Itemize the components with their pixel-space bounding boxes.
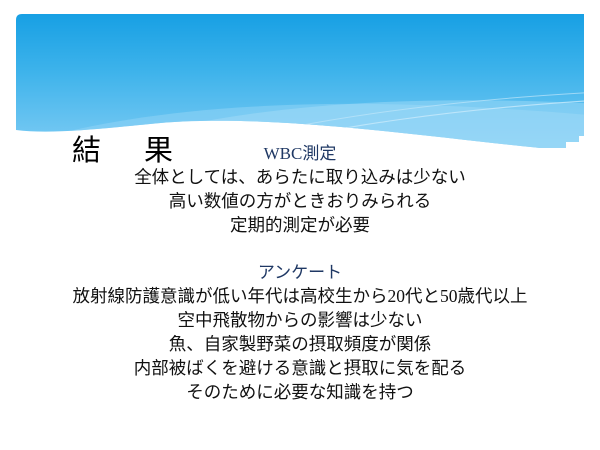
body-line: 内部被ばくを避ける意識と摂取に気を配る	[0, 356, 600, 380]
section-questionnaire: アンケート 放射線防護意識が低い年代は高校生から20代と50歳代以上 空中飛散物…	[0, 261, 600, 404]
body-line: 全体としては、あらたに取り込みは少ない	[0, 165, 600, 189]
section-spacer	[0, 237, 600, 261]
section-heading-wbc: WBC測定	[0, 142, 600, 165]
section-wbc: WBC測定 全体としては、あらたに取り込みは少ない 高い数値の方がときおりみられ…	[0, 142, 600, 237]
body-line: 放射線防護意識が低い年代は高校生から20代と50歳代以上	[0, 284, 600, 308]
body-line: そのために必要な知識を持つ	[0, 380, 600, 404]
slide-body: WBC測定 全体としては、あらたに取り込みは少ない 高い数値の方がときおりみられ…	[0, 142, 600, 404]
body-line: 魚、自家製野菜の摂取頻度が関係	[0, 332, 600, 356]
body-line: 定期的測定が必要	[0, 213, 600, 237]
body-line: 高い数値の方がときおりみられる	[0, 189, 600, 213]
body-line: 空中飛散物からの影響は少ない	[0, 308, 600, 332]
presentation-slide: 結 果 WBC測定 全体としては、あらたに取り込みは少ない 高い数値の方がときお…	[0, 0, 600, 450]
section-heading-questionnaire: アンケート	[0, 261, 600, 284]
